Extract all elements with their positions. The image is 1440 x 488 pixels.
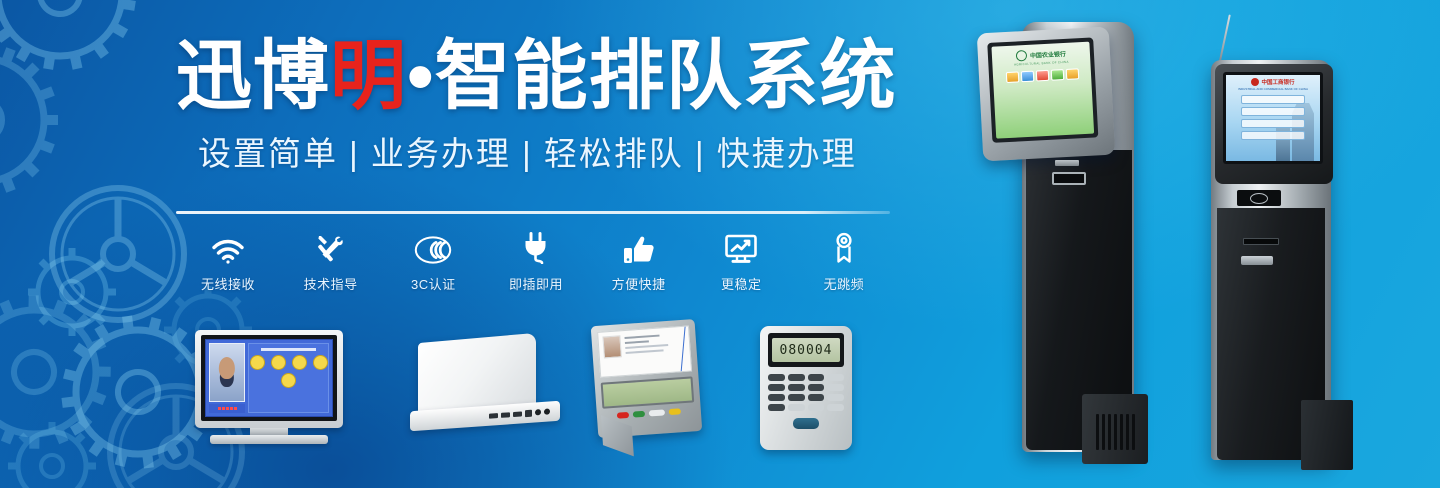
key[interactable]: [768, 374, 785, 381]
subtitle: 设置简单 | 业务办理 | 轻松排队 | 快捷办理: [198, 134, 892, 174]
monitor-frame: [201, 335, 337, 421]
service-tile[interactable]: [1035, 70, 1049, 82]
kiosk-base-box: [1301, 400, 1353, 470]
star: [234, 407, 237, 410]
emoji-very-dissatisfied[interactable]: [281, 373, 296, 388]
title-part-1: 迅博: [176, 34, 330, 119]
key[interactable]: [788, 384, 805, 391]
page-title: 迅博明•智能排队系统: [176, 34, 892, 120]
card-reader[interactable]: [1237, 190, 1281, 206]
wifi-icon: [211, 228, 245, 264]
key[interactable]: [808, 384, 825, 391]
monitor-screen: [205, 339, 333, 417]
staff-details: [624, 331, 686, 371]
button-neutral[interactable]: [649, 409, 665, 416]
divider-line: [176, 211, 890, 214]
product-keypad-terminal: 080004: [760, 326, 864, 452]
key[interactable]: [827, 384, 844, 391]
staff-photo: [209, 343, 245, 402]
bank-branding: 中国工商银行: [1251, 78, 1294, 86]
monitor-chart-icon: [724, 228, 758, 264]
key[interactable]: [827, 404, 844, 411]
ticket-dispenser-slot: [1052, 172, 1086, 185]
feature-item-ccc: 3C认证: [385, 228, 481, 293]
rating-prompt: [261, 348, 316, 351]
service-tile-grid: [1005, 68, 1078, 83]
ticket-dispenser-slot: [1243, 238, 1279, 245]
bank-name: 中国农业银行: [1030, 49, 1066, 60]
emoji-dissatisfied[interactable]: [313, 355, 328, 370]
service-tile[interactable]: [1050, 69, 1064, 81]
key[interactable]: [788, 394, 805, 401]
headline-block: 迅博明•智能排队系统 设置简单 | 业务办理 | 轻松排队 | 快捷办理: [176, 34, 892, 174]
keypad-display-frame: 080004: [768, 333, 844, 367]
queue-kiosk-icbc: 中国工商银行 INDUSTRIAL AND COMMERCIAL BANK OF…: [1205, 8, 1385, 478]
title-part-2: 智能排队系统: [435, 34, 897, 119]
bank-name-english: INDUSTRIAL AND COMMERCIAL BANK OF CHINA: [1238, 87, 1308, 91]
key[interactable]: [768, 404, 785, 411]
star: [222, 407, 225, 410]
star: [230, 407, 233, 410]
keypad-display: 080004: [772, 338, 840, 362]
vent-slat: [1102, 414, 1105, 450]
star: [218, 407, 221, 410]
detail-line: [625, 344, 668, 349]
award-ribbon-icon: [831, 228, 857, 264]
thumbs-up-icon: [623, 228, 655, 264]
bank-name: 中国工商银行: [1261, 78, 1294, 86]
keypad-buttons: [768, 374, 844, 411]
title-separator-dot: •: [407, 34, 435, 119]
rating-panel: [248, 343, 329, 413]
monitor-bezel: [195, 330, 343, 428]
staff-info-panel: [209, 343, 245, 413]
feature-label: 无线接收: [201, 274, 255, 293]
feature-item-tech-support: 技术指导: [283, 228, 379, 293]
vent-slat: [1126, 414, 1129, 450]
key[interactable]: [788, 374, 805, 381]
product-white-host-unit: [410, 338, 556, 442]
key[interactable]: [827, 374, 844, 381]
product-showcase: 080004: [195, 316, 895, 456]
feature-label: 即插即用: [509, 274, 563, 293]
ccc-certification-icon: [414, 228, 452, 264]
port-usb: [489, 413, 498, 419]
star-rating: [209, 404, 245, 413]
menu-option[interactable]: [1241, 119, 1305, 128]
feature-label: 更稳定: [721, 274, 762, 293]
vent-slat: [1132, 414, 1135, 450]
key[interactable]: [808, 404, 825, 411]
product-evaluation-monitor: [195, 330, 343, 442]
feature-item-no-frequency-hopping: 无跳频: [796, 228, 892, 293]
service-menu-list: [1241, 95, 1305, 140]
queue-kiosk-abc: 中国农业银行 AGRICULTURAL BANK OF CHINA: [960, 22, 1160, 488]
feature-list: 无线接收 技术指导 3C认证: [180, 228, 892, 293]
button-dissatisfied[interactable]: [617, 412, 629, 419]
key[interactable]: [768, 384, 785, 391]
evaluator-lcd: [601, 376, 695, 408]
plug-icon: [521, 228, 551, 264]
feature-label: 无跳频: [824, 274, 865, 293]
kiosk-screen-head: 中国工商银行 INDUSTRIAL AND COMMERCIAL BANK OF…: [1215, 64, 1333, 184]
product-desktop-evaluator: [591, 318, 720, 454]
keypad-enter-button[interactable]: [793, 418, 819, 429]
keypad-body: 080004: [760, 326, 852, 450]
feature-label: 方便快捷: [612, 274, 666, 293]
detail-line: [625, 340, 649, 344]
feature-item-convenient: 方便快捷: [591, 228, 687, 293]
kiosk-logo-plate: [1241, 256, 1273, 265]
kiosk-touch-ui[interactable]: 中国工商银行 INDUSTRIAL AND COMMERCIAL BANK OF…: [1226, 75, 1320, 161]
emoji-very-satisfied[interactable]: [250, 355, 265, 370]
key[interactable]: [768, 394, 785, 401]
detail-line: [625, 335, 660, 339]
evaluator-buttons: [603, 407, 695, 419]
monitor-stand: [210, 435, 328, 444]
menu-option[interactable]: [1241, 95, 1305, 104]
feature-item-wireless: 无线接收: [180, 228, 276, 293]
title-accent-character: 明: [330, 34, 407, 119]
evaluator-id-card: [597, 325, 692, 377]
emoji-satisfied[interactable]: [271, 355, 286, 370]
emoji-neutral[interactable]: [292, 355, 307, 370]
key[interactable]: [808, 374, 825, 381]
key[interactable]: [788, 404, 805, 411]
icbc-logo-icon: [1251, 78, 1259, 86]
card-reader-icon: [1250, 193, 1268, 204]
port-usb: [513, 411, 522, 417]
kiosk-logo-plate: [1055, 160, 1079, 166]
vent-slat: [1096, 414, 1099, 450]
kiosk-screen-head: 中国农业银行 AGRICULTURAL BANK OF CHINA: [977, 27, 1116, 162]
port-audio: [535, 409, 541, 415]
vent-slat: [1108, 414, 1111, 450]
tools-icon: [315, 228, 347, 264]
button-satisfied[interactable]: [633, 411, 645, 418]
vent-slat: [1114, 414, 1117, 450]
monitor-neck: [250, 428, 288, 435]
vent-slat: [1120, 414, 1123, 450]
menu-option[interactable]: [1241, 107, 1305, 116]
menu-option[interactable]: [1241, 131, 1305, 140]
service-tile[interactable]: [1020, 71, 1034, 83]
abc-logo-icon: [1016, 50, 1028, 62]
feature-label: 3C认证: [411, 274, 456, 293]
key[interactable]: [827, 394, 844, 401]
kiosk-display-frame: 中国工商银行 INDUSTRIAL AND COMMERCIAL BANK OF…: [1223, 72, 1323, 164]
star: [226, 407, 229, 410]
service-tile[interactable]: [1005, 71, 1019, 83]
feature-item-plug-and-play: 即插即用: [488, 228, 584, 293]
emoji-rating-grid: [249, 355, 328, 388]
feature-label: 技术指导: [304, 274, 358, 293]
promo-banner: 迅博明•智能排队系统 设置简单 | 业务办理 | 轻松排队 | 快捷办理 无线接…: [0, 0, 1440, 488]
port-usb: [501, 412, 510, 418]
port-power: [544, 408, 550, 414]
feature-item-stable: 更稳定: [693, 228, 789, 293]
service-tile[interactable]: [1065, 68, 1079, 80]
kiosk-touch-ui[interactable]: 中国农业银行 AGRICULTURAL BANK OF CHINA: [991, 42, 1094, 139]
detail-line: [626, 349, 664, 354]
button-confirm[interactable]: [669, 408, 681, 415]
key[interactable]: [808, 394, 825, 401]
port-ethernet: [525, 409, 532, 416]
staff-photo: [602, 335, 621, 358]
kiosk-display-frame: 中国农业银行 AGRICULTURAL BANK OF CHINA: [987, 37, 1098, 142]
kiosk-vents: [1096, 414, 1135, 450]
